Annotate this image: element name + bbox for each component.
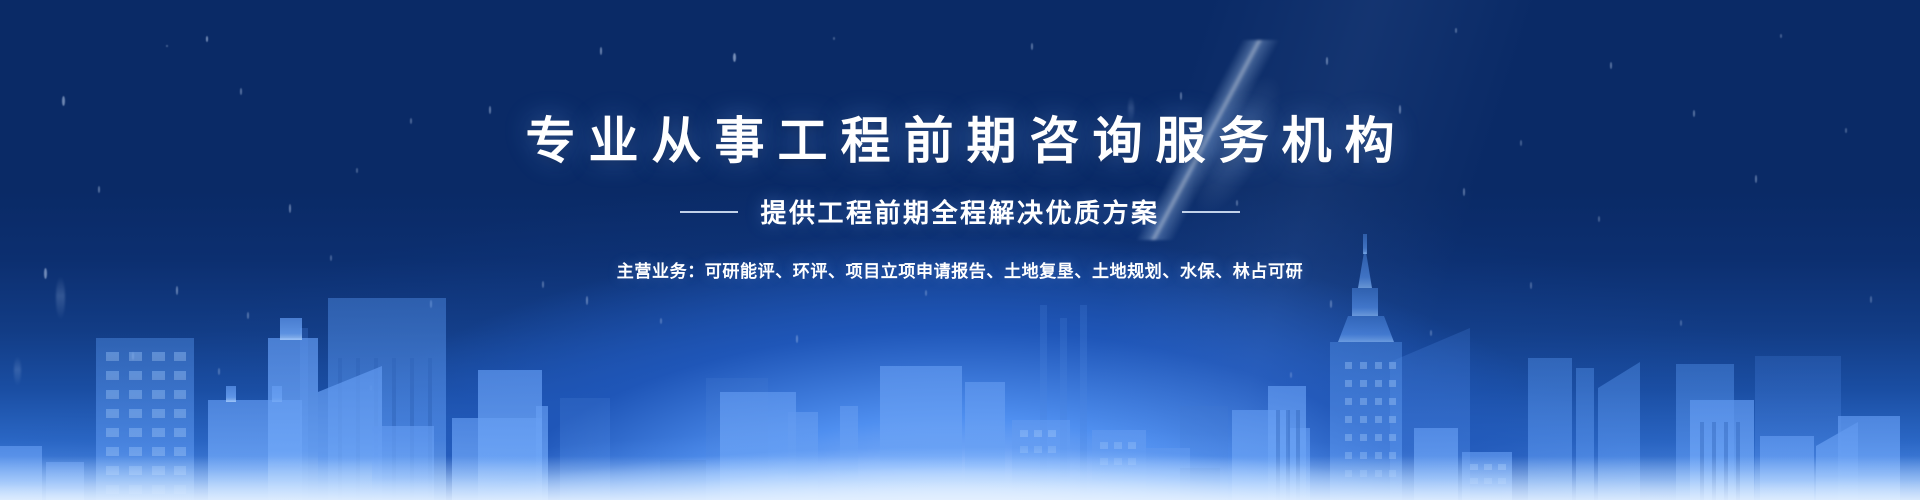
page-subtitle: 提供工程前期全程解决优质方案 — [760, 193, 1159, 230]
page-title: 专业从事工程前期咨询服务机构 — [513, 116, 1408, 166]
right-dash-icon — [1182, 211, 1240, 213]
left-dash-icon — [680, 211, 738, 213]
banner-content: 专业从事工程前期咨询服务机构 提供工程前期全程解决优质方案 主营业务：可研能评、… — [0, 0, 1920, 500]
business-scope-text: 主营业务：可研能评、环评、项目立项申请报告、土地复垦、土地规划、水保、林占可研 — [617, 257, 1303, 282]
subtitle-row: 提供工程前期全程解决优质方案 — [680, 193, 1239, 230]
hero-banner: 专业从事工程前期咨询服务机构 提供工程前期全程解决优质方案 主营业务：可研能评、… — [0, 0, 1920, 500]
